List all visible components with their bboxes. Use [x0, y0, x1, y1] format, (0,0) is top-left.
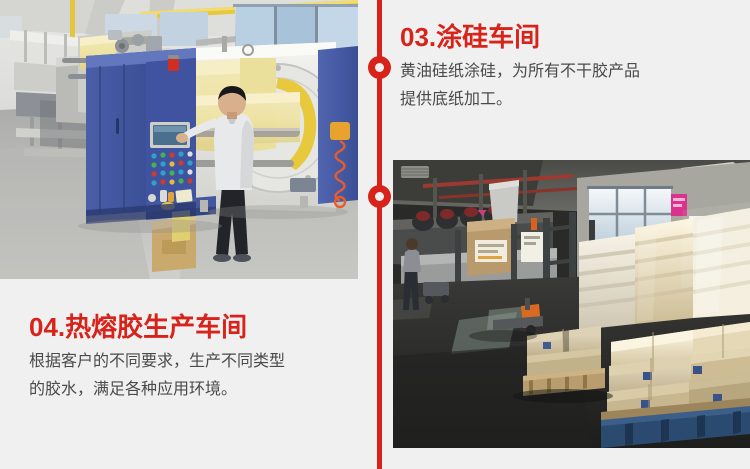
section-04-text: 04.热熔胶生产车间 根据客户的不同要求，生产不同类型 的胶水，满足各种应用环境… — [29, 310, 369, 404]
section-03-title: 03.涂硅车间 — [400, 20, 740, 54]
section-03-body: 黄油硅纸涂硅，为所有不干胶产品 提供底纸加工。 — [400, 58, 740, 114]
section-03-body-line-1: 黄油硅纸涂硅，为所有不干胶产品 — [400, 58, 740, 86]
silicone-coating-workshop-photo — [0, 0, 358, 279]
product-showcase-page: 03.涂硅车间 黄油硅纸涂硅，为所有不干胶产品 提供底纸加工。 04.热熔胶生产… — [0, 0, 750, 469]
timeline-node-04 — [368, 185, 391, 208]
coating-workshop-illustration — [0, 0, 358, 279]
section-04-title: 04.热熔胶生产车间 — [29, 310, 369, 344]
warehouse-illustration — [393, 160, 750, 448]
section-03-text: 03.涂硅车间 黄油硅纸涂硅，为所有不干胶产品 提供底纸加工。 — [400, 20, 740, 114]
section-04-body: 根据客户的不同要求，生产不同类型 的胶水，满足各种应用环境。 — [29, 348, 369, 404]
hot-melt-adhesive-workshop-photo — [393, 160, 750, 448]
section-04-body-line-1: 根据客户的不同要求，生产不同类型 — [29, 348, 369, 376]
section-04-body-line-2: 的胶水，满足各种应用环境。 — [29, 376, 369, 404]
section-03-body-line-2: 提供底纸加工。 — [400, 86, 740, 114]
timeline-node-03 — [368, 56, 391, 79]
